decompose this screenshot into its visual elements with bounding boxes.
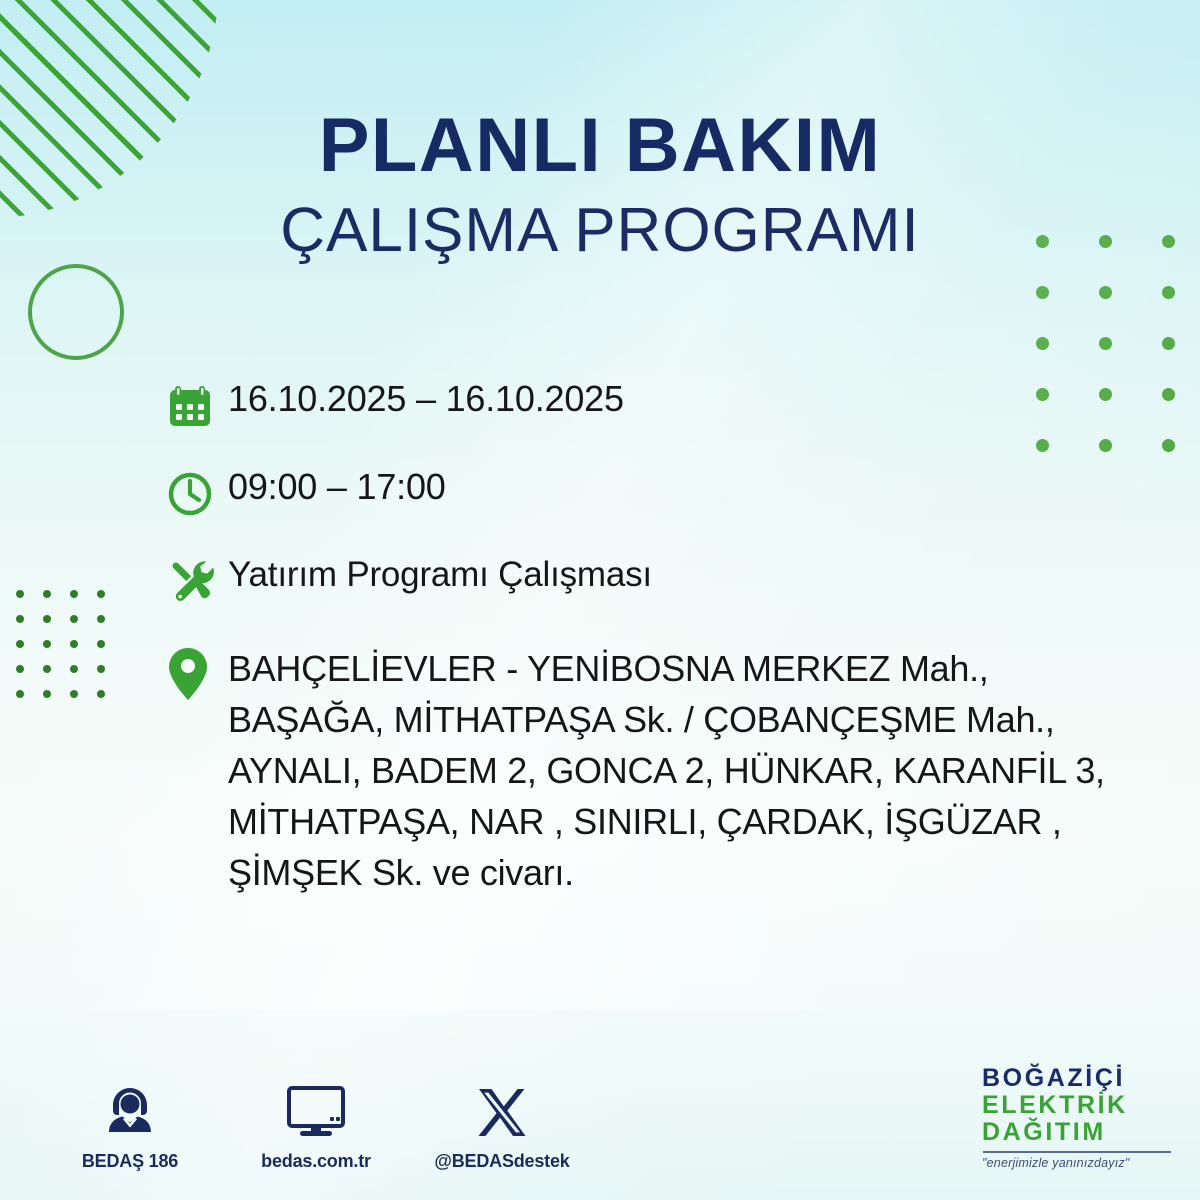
dot: [97, 615, 105, 623]
circle-outline-decoration: [28, 264, 124, 360]
map-pin-icon: [166, 639, 228, 703]
monitor-icon: [246, 1078, 386, 1140]
dot: [16, 590, 24, 598]
x-twitter-icon: [432, 1078, 572, 1140]
poster-header: PLANLI BAKIM ÇALIŞMA PROGRAMI: [0, 108, 1200, 262]
dot: [1162, 439, 1175, 452]
footer-contacts: BEDAŞ 186 bedas.com.tr @BEDASdestek: [60, 1078, 572, 1172]
location-text: BAHÇELİEVLER - YENİBOSNA MERKEZ Mah., BA…: [228, 639, 1108, 899]
company-logo: BOĞAZİÇİ ELEKTRİK DAĞITIM "enerjimizle y…: [982, 1065, 1178, 1170]
dot: [1036, 286, 1049, 299]
contact-social-label: @BEDASdestek: [432, 1151, 572, 1172]
dot: [43, 665, 51, 673]
page-subtitle: ÇALIŞMA PROGRAMI: [0, 200, 1200, 262]
time-range-text: 09:00 – 17:00: [228, 463, 1146, 507]
dot: [1162, 337, 1175, 350]
dot: [1099, 337, 1112, 350]
dot: [70, 690, 78, 698]
maintenance-details: 16.10.2025 – 16.10.2025 09:00 – 17:00: [166, 375, 1146, 927]
dot: [1036, 337, 1049, 350]
work-type-text: Yatırım Programı Çalışması: [228, 551, 1146, 594]
detail-row-work-type: Yatırım Programı Çalışması: [166, 551, 1146, 611]
dot: [16, 690, 24, 698]
dot: [43, 690, 51, 698]
detail-row-date: 16.10.2025 – 16.10.2025: [166, 375, 1146, 435]
clock-icon: [166, 463, 228, 523]
detail-row-time: 09:00 – 17:00: [166, 463, 1146, 523]
dot: [70, 640, 78, 648]
contact-phone[interactable]: BEDAŞ 186: [60, 1078, 200, 1172]
dot: [1162, 286, 1175, 299]
dot: [70, 590, 78, 598]
dot: [16, 640, 24, 648]
dot: [97, 665, 105, 673]
dot-grid-left-decoration: [16, 590, 124, 715]
tools-icon: [166, 551, 228, 611]
dot: [70, 665, 78, 673]
contact-website[interactable]: bedas.com.tr: [246, 1078, 386, 1172]
logo-line-dagitim: DAĞITIM: [982, 1119, 1178, 1146]
calendar-icon: [166, 375, 228, 435]
contact-phone-label: BEDAŞ 186: [60, 1151, 200, 1172]
headset-agent-icon: [60, 1078, 200, 1140]
logo-line-elektrik: ELEKTRİK: [982, 1092, 1178, 1119]
dot: [16, 665, 24, 673]
logo-divider: [983, 1151, 1171, 1153]
dot: [43, 640, 51, 648]
dot: [97, 690, 105, 698]
contact-website-label: bedas.com.tr: [246, 1151, 386, 1172]
planned-maintenance-poster: PLANLI BAKIM ÇALIŞMA PROGRAMI: [0, 0, 1200, 1200]
dot: [1099, 286, 1112, 299]
date-range-text: 16.10.2025 – 16.10.2025: [228, 375, 1146, 419]
dot: [43, 615, 51, 623]
logo-line-bogazici: BOĞAZİÇİ: [982, 1065, 1178, 1092]
page-title: PLANLI BAKIM: [0, 108, 1200, 184]
dot: [70, 615, 78, 623]
dot: [97, 640, 105, 648]
logo-tagline: "enerjimizle yanınızdayız": [982, 1156, 1178, 1170]
dot: [97, 590, 105, 598]
dot: [43, 590, 51, 598]
detail-row-location: BAHÇELİEVLER - YENİBOSNA MERKEZ Mah., BA…: [166, 639, 1146, 899]
dot: [1162, 388, 1175, 401]
dot: [16, 615, 24, 623]
contact-social[interactable]: @BEDASdestek: [432, 1078, 572, 1172]
